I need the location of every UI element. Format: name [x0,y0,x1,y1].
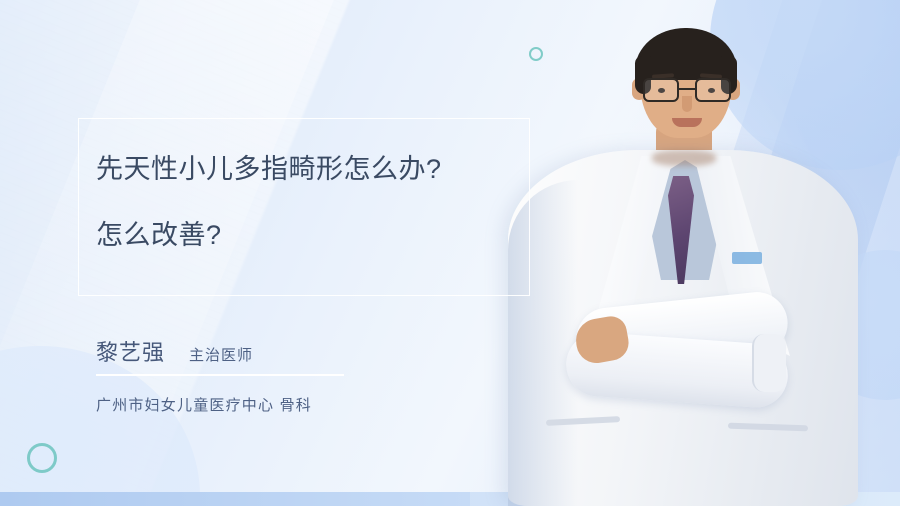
title-line-1: 先天性小儿多指畸形怎么办? [96,152,566,186]
doctor-nose [682,96,692,112]
collar-shadow [652,150,716,166]
thumbnail-canvas: 先天性小儿多指畸形怎么办? 怎么改善? 黎艺强 主治医师 广州市妇女儿童医疗中心… [0,0,900,506]
circle-outline-icon-large [27,443,57,473]
page-title: 先天性小儿多指畸形怎么办? 怎么改善? [96,152,566,252]
glasses-lens-left [643,78,679,102]
glasses-bridge [679,88,695,90]
glasses-lens-right [695,78,731,102]
coat-badge [732,252,762,264]
doctor-name: 黎艺强 [96,335,165,367]
doctor-credit-row: 黎艺强 主治医师 [96,335,526,367]
bottom-bar-accent [0,492,470,506]
doctor-credit: 黎艺强 主治医师 广州市妇女儿童医疗中心 骨科 [96,335,526,415]
coat-cuff [752,334,786,392]
doctor-photo [480,0,900,506]
doctor-organization: 广州市妇女儿童医疗中心 骨科 [96,394,526,415]
title-line-2: 怎么改善? [96,218,566,252]
credit-divider [96,374,344,376]
doctor-job-title: 主治医师 [189,344,253,367]
doctor-mouth [672,118,702,127]
